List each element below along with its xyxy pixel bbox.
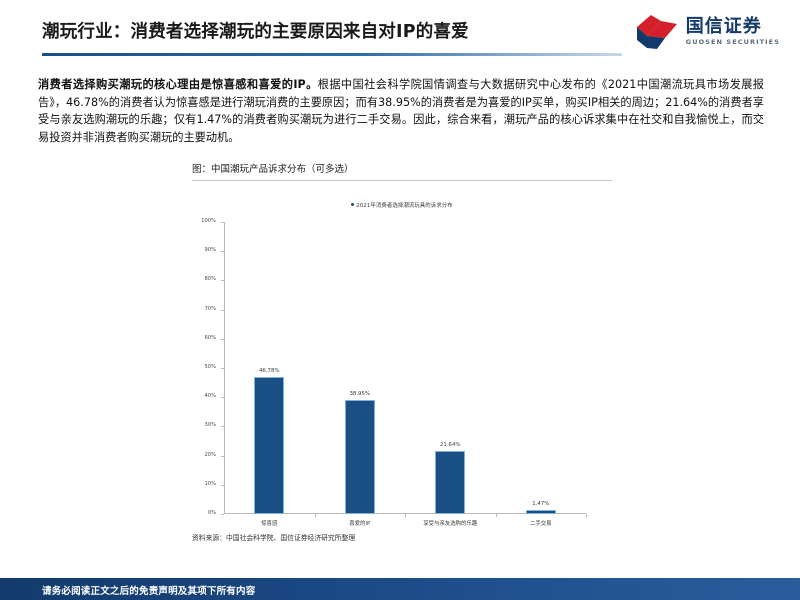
x-axis-category-label: 二手交易 [530, 519, 552, 527]
y-axis-tick-label: 50% [204, 364, 216, 370]
y-axis-tick: 70% [221, 310, 224, 311]
y-axis-tick: 20% [221, 456, 224, 457]
chart-plot-area: 100%90%80%70%60%50%40%30%20%10%0%46.78%惊… [224, 222, 586, 514]
x-axis-tick [315, 514, 316, 517]
y-axis-tick-label: 30% [204, 422, 216, 428]
y-axis-tick: 60% [221, 339, 224, 340]
guosen-logo-icon [635, 14, 679, 50]
x-axis-tick [496, 514, 497, 517]
x-axis-category-label: 惊喜感 [261, 519, 277, 527]
legend-label: 2021年消费者选择潮流玩具的诉求分布 [356, 203, 452, 209]
y-axis-tick-label: 100% [201, 218, 216, 224]
slide-root: 潮玩行业：消费者选择潮玩的主要原因来自对IP的喜爱 国信证券 GUOSEN SE… [0, 0, 800, 600]
figure-caption: 图：中国潮玩产品诉求分布（可多选） [192, 163, 612, 177]
legend-marker-icon [351, 203, 354, 206]
bar-4: 1.47%二手交易 [526, 510, 556, 514]
y-axis-tick-label: 60% [204, 335, 216, 341]
brand-logo: 国信证券 GUOSEN SECURITIES [635, 14, 780, 50]
bar-1: 46.78%惊喜感 [254, 377, 284, 514]
bar-2: 38.95%喜爱的IP [345, 400, 375, 514]
bar-value-label: 21.64% [440, 442, 461, 448]
y-axis-tick-label: 70% [204, 306, 216, 312]
bar-value-label: 38.95% [349, 391, 370, 397]
x-axis-tick [586, 514, 587, 517]
brand-name-en: GUOSEN SECURITIES [686, 38, 780, 47]
page-title-wrap: 潮玩行业：消费者选择潮玩的主要原因来自对IP的喜爱 [42, 20, 622, 44]
title-underline-rule [42, 53, 622, 56]
y-axis-tick-label: 90% [204, 247, 216, 253]
y-axis-tick: 50% [221, 368, 224, 369]
x-axis-tick [405, 514, 406, 517]
footer-disclaimer: 请务必阅读正文之后的免责声明及其项下所有内容 [42, 583, 255, 597]
y-axis-tick: 30% [221, 426, 224, 427]
bar-3: 21.64%享受与亲友选购的乐趣 [435, 451, 465, 514]
bar-chart: 2021年消费者选择潮流玩具的诉求分布 100%90%80%70%60%50%4… [192, 186, 612, 546]
bar-value-label: 1.47% [532, 501, 549, 507]
body-lead-sentence: 消费者选择购买潮玩的核心理由是惊喜感和喜爱的IP。 [38, 78, 318, 91]
body-paragraph-block: 消费者选择购买潮玩的核心理由是惊喜感和喜爱的IP。根据中国社会科学院国情调查与大… [38, 76, 764, 146]
x-axis-category-label: 享受与亲友选购的乐趣 [423, 519, 477, 527]
brand-name-cn: 国信证券 [686, 17, 780, 37]
y-axis-tick-label: 40% [204, 393, 216, 399]
slide-header: 潮玩行业：消费者选择潮玩的主要原因来自对IP的喜爱 国信证券 GUOSEN SE… [0, 0, 800, 62]
figure-caption-rule [192, 180, 612, 181]
chart-legend: 2021年消费者选择潮流玩具的诉求分布 [192, 201, 612, 209]
y-axis-tick-label: 10% [204, 481, 216, 487]
y-axis-tick: 0% [221, 514, 224, 515]
body-paragraph: 消费者选择购买潮玩的核心理由是惊喜感和喜爱的IP。根据中国社会科学院国情调查与大… [38, 76, 764, 146]
bar-value-label: 46.78% [259, 368, 280, 374]
page-title: 潮玩行业：消费者选择潮玩的主要原因来自对IP的喜爱 [42, 20, 622, 44]
y-axis-tick-label: 80% [204, 276, 216, 282]
slide-footer: 请务必阅读正文之后的免责声明及其项下所有内容 [0, 578, 800, 600]
x-axis-category-label: 喜爱的IP [349, 519, 370, 527]
y-axis-tick: 80% [221, 280, 224, 281]
y-axis-tick-label: 20% [204, 452, 216, 458]
y-axis-line [224, 222, 225, 514]
y-axis-tick: 10% [221, 485, 224, 486]
y-axis-tick: 100% [221, 222, 224, 223]
brand-logo-text: 国信证券 GUOSEN SECURITIES [686, 17, 780, 47]
figure-source-note: 资料来源：中国社会科学院、国信证券经济研究所整理 [192, 532, 355, 542]
y-axis-tick-label: 0% [208, 510, 216, 516]
figure-caption-wrap: 图：中国潮玩产品诉求分布（可多选） [192, 163, 612, 181]
y-axis-tick: 90% [221, 251, 224, 252]
y-axis-tick: 40% [221, 397, 224, 398]
